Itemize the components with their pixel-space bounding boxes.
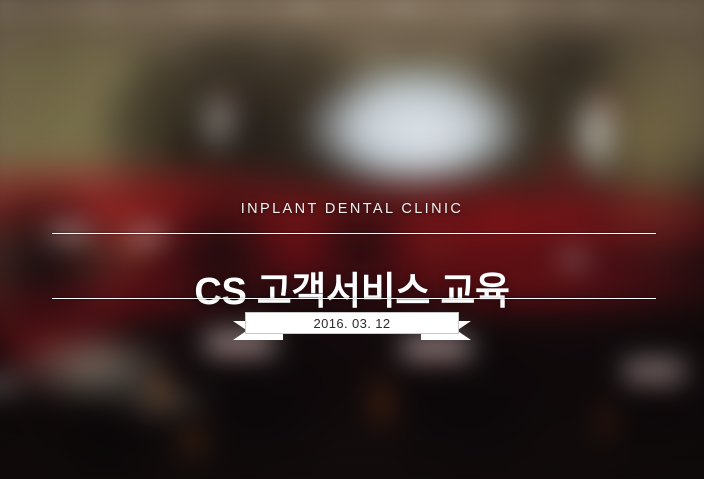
- date-text: 2016. 03. 12: [313, 316, 390, 331]
- subtitle-text: INPLANT DENTAL CLINIC: [0, 201, 704, 217]
- date-ribbon-plate: 2016. 03. 12: [245, 312, 459, 334]
- presentation-title-slide: INPLANT DENTAL CLINIC CS 고객서비스 교육 2016. …: [0, 0, 704, 479]
- title-lockup: INPLANT DENTAL CLINIC CS 고객서비스 교육 2016. …: [0, 0, 704, 479]
- page-title: CS 고객서비스 교육: [0, 270, 704, 314]
- divider-rule-top: [52, 233, 656, 234]
- date-ribbon: 2016. 03. 12: [233, 312, 471, 346]
- divider-rule-bottom: [52, 298, 656, 299]
